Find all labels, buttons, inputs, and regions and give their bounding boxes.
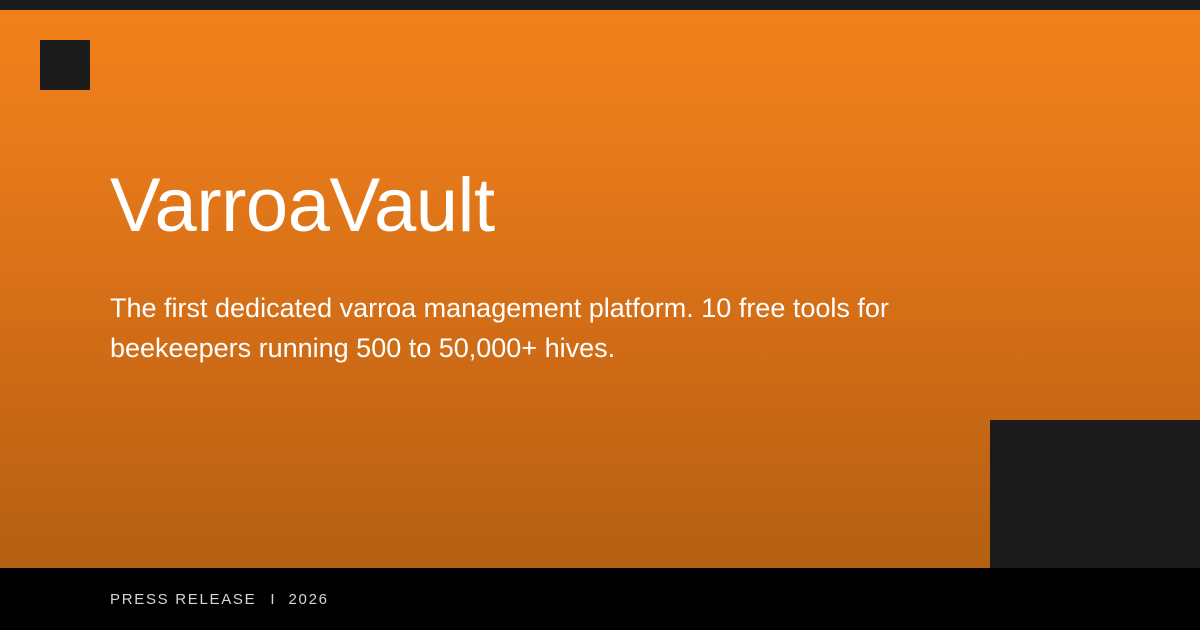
hero-subtitle: The first dedicated varroa management pl… [110, 244, 950, 368]
footer-separator-icon: I [256, 591, 288, 608]
top-accent-bar [0, 0, 1200, 10]
footer-bar: PRESS RELEASE I 2026 [0, 568, 1200, 630]
footer-year: 2026 [289, 591, 329, 608]
footer-label: PRESS RELEASE [110, 591, 256, 608]
corner-accent-panel [990, 420, 1200, 568]
square-logo-mark-icon [40, 40, 90, 90]
footer-meta: PRESS RELEASE I 2026 [110, 568, 329, 630]
share-card: VarroaVault The first dedicated varroa m… [0, 0, 1200, 630]
hero-content: VarroaVault The first dedicated varroa m… [110, 168, 990, 368]
page-title: VarroaVault [110, 168, 990, 244]
